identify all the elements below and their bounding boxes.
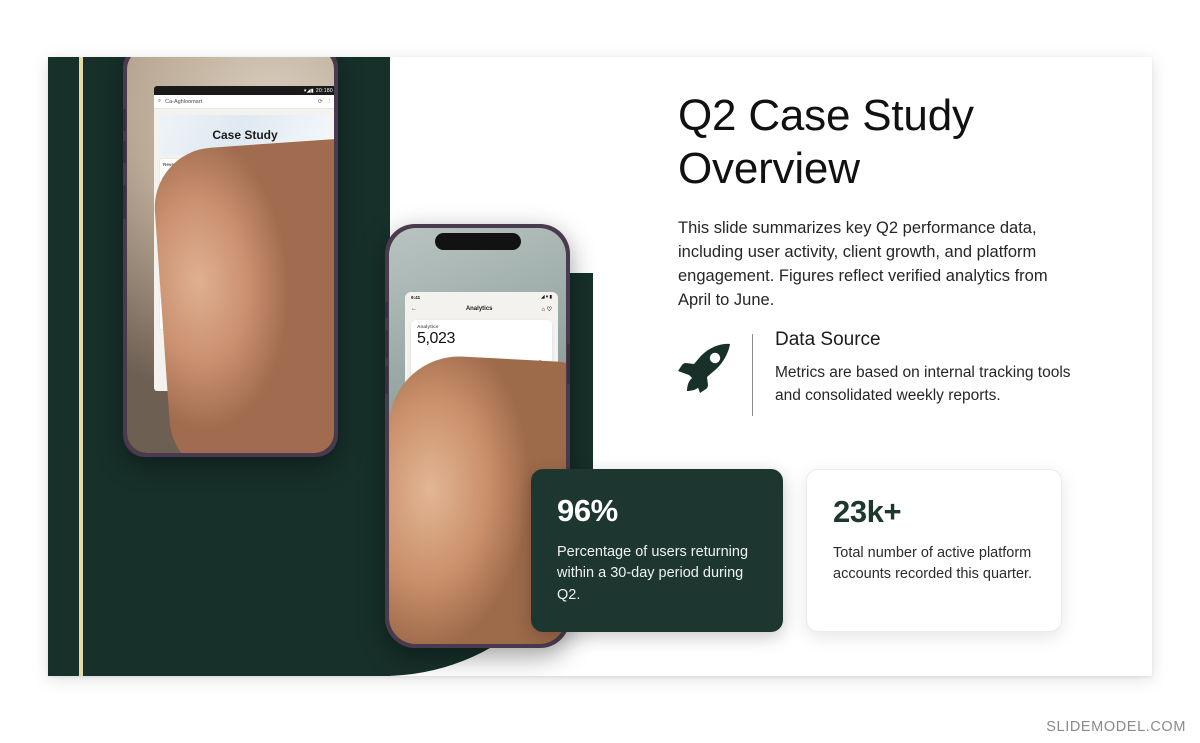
- watermark: SLIDEMODEL.COM: [1046, 719, 1186, 735]
- search-icon: ⌕: [158, 98, 161, 105]
- power-button[interactable]: [567, 344, 570, 384]
- status-time: 20:180: [316, 88, 333, 94]
- mute-switch[interactable]: [385, 302, 388, 318]
- address-text: Ca-Aghloomart: [165, 99, 314, 105]
- stat-card-label: Percentage of users returning within a 3…: [557, 542, 757, 606]
- stat-card-active-accounts: 23k+ Total number of active platform acc…: [806, 469, 1062, 632]
- rocket-icon: [678, 329, 744, 397]
- power-button[interactable]: [123, 185, 126, 219]
- source-text: Metrics are based on internal tracking t…: [775, 362, 1098, 407]
- stat-card-value: 23k+: [833, 494, 1035, 530]
- phone-left-body: ▾◢▮ 20:180 ⌕ Ca-Aghloomart ⟳ ⋮ Case Stud…: [127, 57, 334, 453]
- phone-right-status-bar: 9:41 ◢ ▾ ▮: [405, 292, 558, 302]
- gold-accent-stripe: [79, 57, 83, 676]
- stat-card-returning-users: 96% Percentage of users returning within…: [531, 469, 783, 632]
- signal-battery-icon: ◢ ▾ ▮: [541, 294, 552, 300]
- source-divider: [752, 334, 753, 416]
- data-source-block: Data Source Metrics are based on interna…: [678, 329, 1098, 421]
- stat-card-value: 96%: [557, 493, 757, 529]
- menu-icon[interactable]: ⋮: [327, 99, 333, 105]
- slide-description: This slide summarizes key Q2 performance…: [678, 217, 1078, 313]
- nav-actions[interactable]: ⌂ ♡: [541, 306, 552, 313]
- analytics-nav-bar: ← Analytics ⌂ ♡: [405, 302, 558, 316]
- page-title: Q2 Case Study Overview: [678, 89, 1078, 195]
- volume-button[interactable]: [385, 366, 388, 394]
- back-arrow-icon[interactable]: ←: [411, 306, 417, 312]
- phone-notch: [435, 233, 521, 250]
- slide-canvas: ▾◢▮ 20:180 ⌕ Ca-Aghloomart ⟳ ⋮ Case Stud…: [48, 57, 1152, 676]
- hand-holding-phone-left: [151, 137, 334, 453]
- phone-mockup-left: ▾◢▮ 20:180 ⌕ Ca-Aghloomart ⟳ ⋮ Case Stud…: [123, 57, 338, 457]
- status-time: 9:41: [411, 295, 420, 300]
- analytics-label: Analytics: [417, 325, 546, 330]
- stat-card-label: Total number of active platform accounts…: [833, 543, 1035, 586]
- nav-title: Analytics: [466, 306, 493, 312]
- analytics-value: 5,023: [417, 330, 546, 348]
- source-title: Data Source: [775, 329, 1098, 351]
- source-text-block: Data Source Metrics are based on interna…: [775, 329, 1098, 407]
- volume-button[interactable]: [123, 141, 126, 163]
- phone-left-status-bar: ▾◢▮ 20:180: [154, 86, 334, 95]
- volume-button[interactable]: [123, 109, 126, 131]
- signal-icon: ▾◢▮: [304, 88, 314, 94]
- browser-address-bar[interactable]: ⌕ Ca-Aghloomart ⟳ ⋮: [154, 95, 334, 109]
- page-root: ▾◢▮ 20:180 ⌕ Ca-Aghloomart ⟳ ⋮ Case Stud…: [0, 0, 1200, 743]
- volume-button[interactable]: [385, 330, 388, 358]
- refresh-icon[interactable]: ⟳: [318, 99, 323, 105]
